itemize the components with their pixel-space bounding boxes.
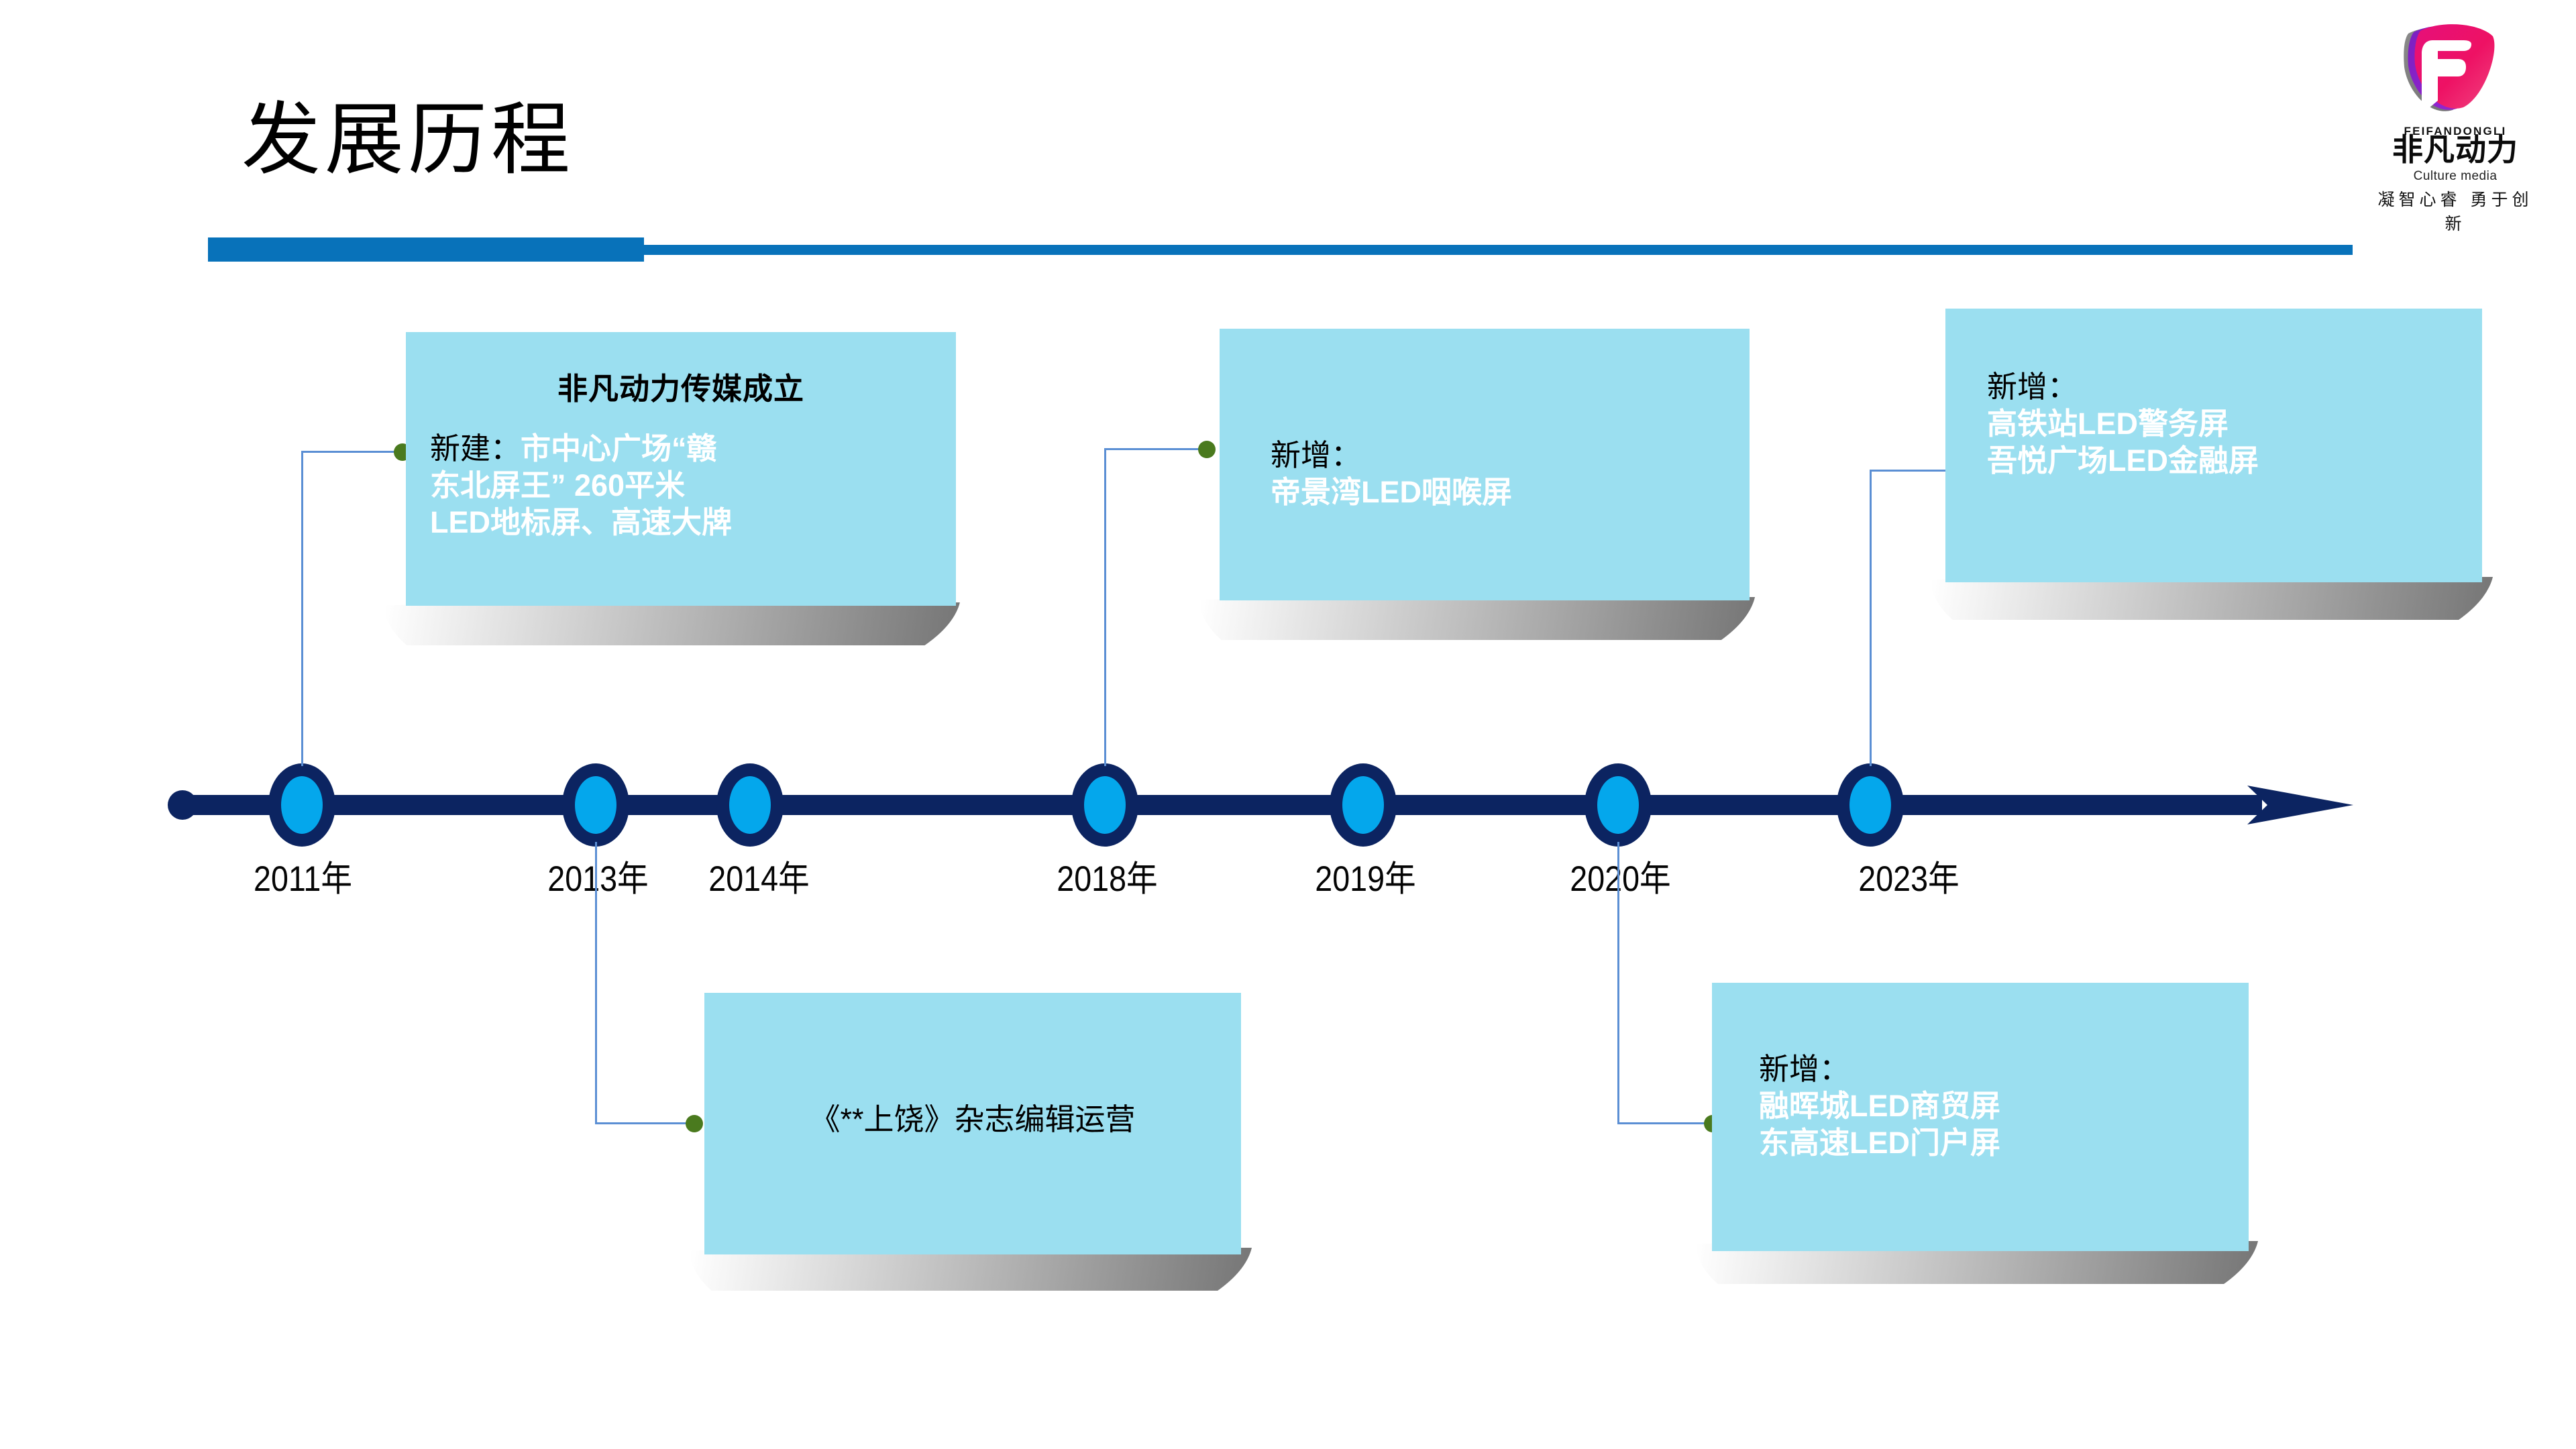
logo-name-cn: 非凡动力 (2375, 133, 2536, 167)
timeline-node-2014[interactable] (716, 763, 784, 847)
event-card-2011[interactable]: 非凡动力传媒成立 新建：市中心广场“赣 东北屏王” 260平米 LED地标屏、高… (406, 332, 956, 606)
event-card-2013[interactable]: 《**上饶》杂志编辑运营 (704, 993, 1241, 1254)
logo-mark-icon (2388, 19, 2502, 119)
card-highlight-2011-line1: 市中心广场“赣 (521, 431, 717, 466)
timeline-node-2013[interactable] (562, 763, 629, 847)
card-lead-2020: 新增： (1759, 1051, 2249, 1088)
timeline-node-2018[interactable] (1071, 763, 1138, 847)
timeline-year-label-2023: 2023年 (1858, 851, 1959, 902)
card-lead-2011: 新建： (430, 431, 521, 466)
event-card-2018[interactable]: 新增： 帝景湾LED咽喉屏 (1220, 329, 1750, 600)
event-card-2020[interactable]: 新增： 融晖城LED商贸屏 东高速LED门户屏 (1712, 983, 2249, 1251)
connector-dot-2018 (1198, 441, 1216, 458)
card-highlight-2020-line1: 融晖城LED商贸屏 (1759, 1088, 2249, 1125)
card-shadow-2011 (386, 602, 963, 645)
card-text-2013: 《**上饶》杂志编辑运营 (704, 993, 1241, 1138)
page-title: 发展历程 (241, 101, 574, 180)
card-highlight-2023-line1: 高铁站LED警务屏 (1987, 406, 2482, 443)
timeline-node-2023[interactable] (1837, 763, 1904, 847)
logo-tagline: 凝智心睿 勇于创新 (2368, 186, 2542, 235)
connector-2013-vertical (595, 842, 597, 1122)
connector-2020-horizontal (1617, 1122, 1718, 1124)
connector-2013-horizontal (595, 1122, 700, 1124)
timeline-year-label-2020: 2020年 (1570, 851, 1670, 902)
card-lead-2018: 新增： (1271, 437, 1750, 474)
timeline-year-label-2013: 2013年 (547, 851, 648, 902)
title-underline-thick (208, 237, 644, 262)
card-body-2023: 新增： 高铁站LED警务屏 吾悦广场LED金融屏 (1945, 309, 2482, 480)
event-card-2023[interactable]: 新增： 高铁站LED警务屏 吾悦广场LED金融屏 (1945, 309, 2482, 582)
connector-2023-vertical (1870, 470, 1872, 766)
connector-2018-horizontal (1104, 448, 1212, 450)
card-highlight-2011-line2: 东北屏王” 260平米 (430, 468, 685, 502)
card-highlight-2023-line2: 吾悦广场LED金融屏 (1987, 443, 2482, 480)
timeline-node-2019[interactable] (1330, 763, 1397, 847)
connector-2011-vertical (301, 451, 303, 766)
timeline-year-label-2014: 2014年 (708, 851, 809, 902)
card-shadow-2018 (1201, 597, 1758, 640)
company-logo: FEIFANDONGLI 非凡动力 Culture media 凝智心睿 勇于创… (2361, 13, 2549, 215)
timeline-year-label-2018: 2018年 (1057, 851, 1157, 902)
connector-2020-vertical (1617, 842, 1619, 1122)
timeline-axis (168, 768, 2355, 842)
title-underline-thin (641, 245, 2353, 255)
card-lead-2023: 新增： (1987, 369, 2482, 406)
logo-subtitle: Culture media (2375, 169, 2536, 184)
connector-2018-vertical (1104, 448, 1106, 766)
card-body-2018: 新增： 帝景湾LED咽喉屏 (1220, 329, 1750, 511)
card-body-2011: 新建：市中心广场“赣 东北屏王” 260平米 LED地标屏、高速大牌 (406, 431, 956, 541)
timeline-year-label-2019: 2019年 (1315, 851, 1415, 902)
timeline-node-2011[interactable] (268, 763, 335, 847)
connector-dot-2013 (686, 1115, 703, 1132)
card-shadow-2023 (1932, 577, 2495, 620)
card-highlight-2018-line1: 帝景湾LED咽喉屏 (1271, 474, 1750, 511)
card-title-2011: 非凡动力传媒成立 (406, 364, 956, 408)
timeline-node-2020[interactable] (1585, 763, 1652, 847)
connector-2011-horizontal (301, 451, 407, 453)
timeline-year-label-2011: 2011年 (254, 851, 352, 902)
card-highlight-2011-line3: LED地标屏、高速大牌 (430, 505, 732, 539)
card-body-2020: 新增： 融晖城LED商贸屏 东高速LED门户屏 (1712, 983, 2249, 1162)
card-highlight-2020-line2: 东高速LED门户屏 (1759, 1125, 2249, 1162)
